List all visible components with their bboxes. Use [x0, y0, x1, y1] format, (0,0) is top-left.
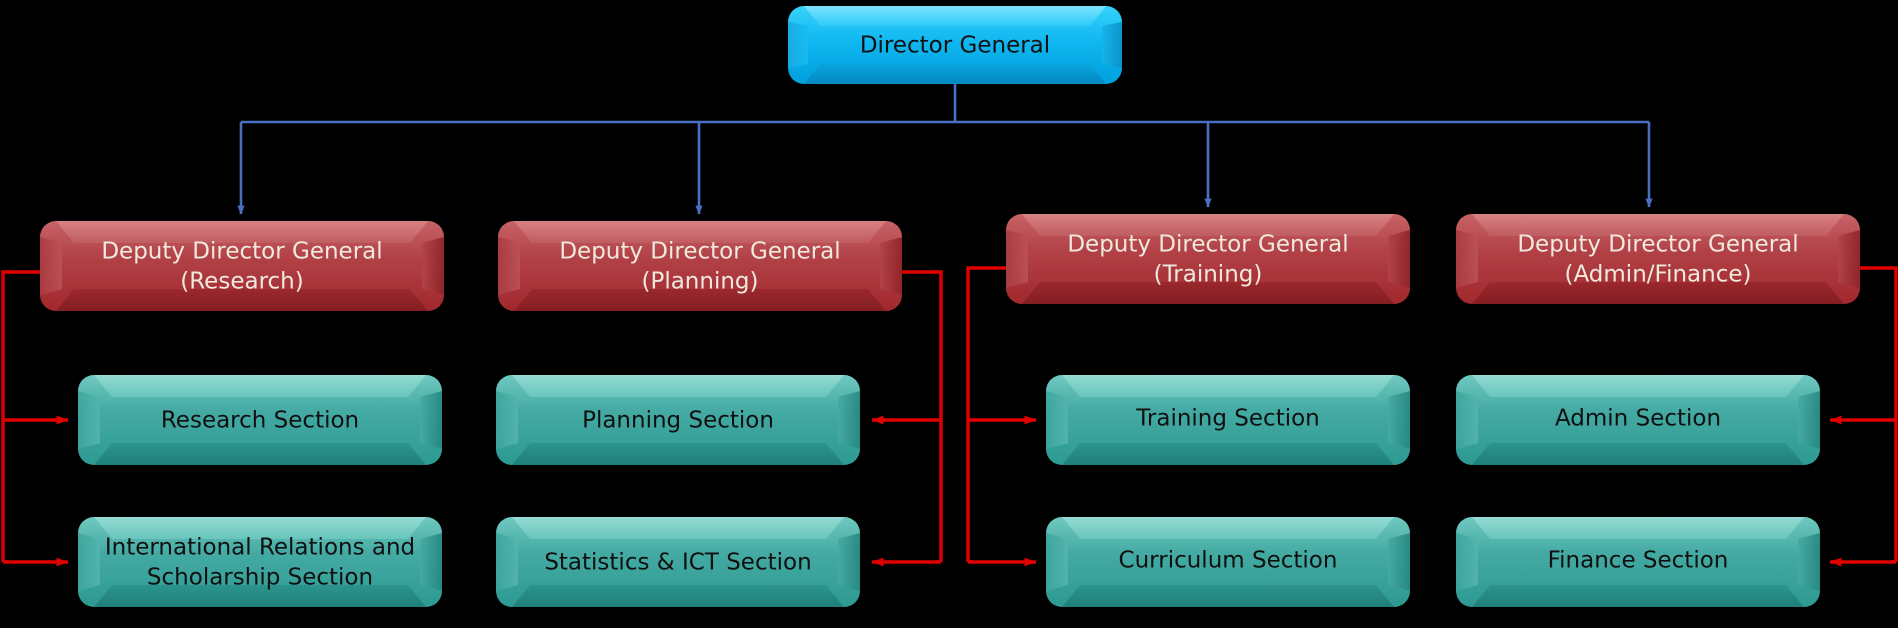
node-director-general[interactable]: Director General [788, 6, 1122, 84]
node-ddg-training[interactable]: Deputy Director General (Training) [1006, 214, 1410, 304]
node-international-relations-scholarship-section[interactable]: International Relations and Scholarship … [78, 517, 442, 607]
node-label-training-section: Training Section [1135, 406, 1320, 432]
node-finance-section[interactable]: Finance Section [1456, 517, 1820, 607]
node-statistics-ict-section[interactable]: Statistics & ICT Section [496, 517, 860, 607]
org-chart-canvas: Director General Deputy Director General… [0, 0, 1898, 628]
node-label-ddg-admin-finance-line1: Deputy Director General [1517, 232, 1798, 258]
node-planning-section[interactable]: Planning Section [496, 375, 860, 465]
link-planning-spine [900, 272, 941, 562]
node-curriculum-section[interactable]: Curriculum Section [1046, 517, 1410, 607]
node-ddg-planning[interactable]: Deputy Director General (Planning) [498, 221, 902, 311]
node-label-ddg-training-line1: Deputy Director General [1067, 232, 1348, 258]
node-label-statistics-ict-section: Statistics & ICT Section [544, 550, 811, 576]
node-label-intl-relations-line1: International Relations and [105, 535, 415, 561]
node-training-section[interactable]: Training Section [1046, 375, 1410, 465]
org-chart-svg: Director General Deputy Director General… [0, 0, 1898, 628]
node-label-ddg-planning-line2: (Planning) [641, 269, 758, 295]
node-label-intl-relations-line2: Scholarship Section [147, 565, 373, 591]
node-label-director-general: Director General [860, 33, 1050, 59]
link-training-spine [968, 268, 1008, 562]
hierarchy-links-group [241, 84, 1649, 214]
link-admin-spine [1858, 268, 1896, 562]
node-label-planning-section: Planning Section [582, 408, 774, 434]
node-label-research-section: Research Section [161, 408, 359, 434]
node-label-ddg-research-line2: (Research) [180, 269, 303, 295]
node-research-section[interactable]: Research Section [78, 375, 442, 465]
link-research-spine [3, 272, 42, 562]
node-label-ddg-admin-finance-line2: (Admin/Finance) [1565, 262, 1752, 288]
node-label-curriculum-section: Curriculum Section [1119, 548, 1338, 574]
node-ddg-research[interactable]: Deputy Director General (Research) [40, 221, 444, 311]
node-ddg-admin-finance[interactable]: Deputy Director General (Admin/Finance) [1456, 214, 1860, 304]
node-admin-section[interactable]: Admin Section [1456, 375, 1820, 465]
node-label-ddg-research-line1: Deputy Director General [101, 239, 382, 265]
node-label-admin-section: Admin Section [1555, 406, 1721, 432]
node-label-ddg-training-line2: (Training) [1154, 262, 1263, 288]
node-label-finance-section: Finance Section [1548, 548, 1729, 574]
node-label-ddg-planning-line1: Deputy Director General [559, 239, 840, 265]
